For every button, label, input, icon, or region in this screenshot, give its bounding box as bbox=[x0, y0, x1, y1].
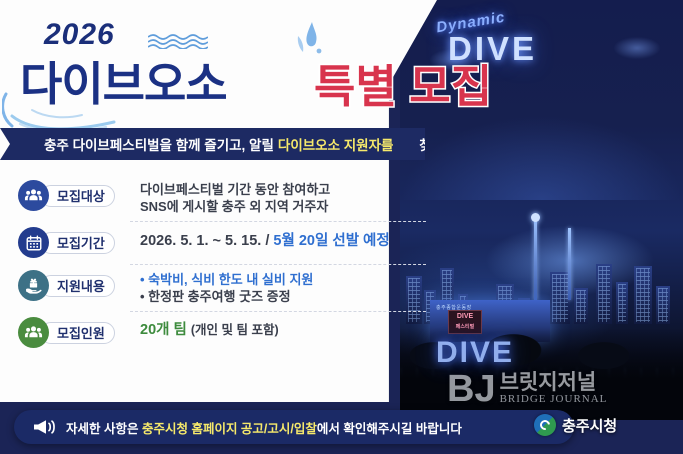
city-logo-name: 충주시청 bbox=[562, 415, 617, 436]
info-row-badge: 모집기간 bbox=[18, 227, 130, 258]
info-line: 다이브페스티벌 기간 동안 참여하고 bbox=[140, 181, 418, 198]
info-row-body: 숙박비, 식비 한도 내 실비 지원 한정판 충주여행 굿즈 증정 bbox=[130, 270, 418, 305]
info-row-badge: 지원내용 bbox=[18, 270, 130, 301]
observation-tower bbox=[534, 214, 537, 300]
drone-text-lower: DIVE bbox=[436, 336, 514, 370]
skyline-building bbox=[550, 272, 570, 324]
info-row-label: 모집대상 bbox=[40, 185, 115, 207]
info-row: 모집대상 다이브페스티벌 기간 동안 참여하고 SNS에 게시할 충주 외 지역… bbox=[18, 174, 418, 221]
people-group-icon bbox=[18, 180, 49, 211]
info-row-label: 모집기간 bbox=[40, 232, 115, 254]
info-line: 숙박비, 식비 한도 내 실비 지원 bbox=[140, 271, 418, 288]
poster-title-accent: 특별 모집 bbox=[314, 50, 492, 115]
footer-text-before: 자세한 사항은 bbox=[66, 422, 138, 436]
info-row: 모집인원 20개 팀 (개인 및 팀 포함) bbox=[18, 311, 418, 354]
info-row-body: 20개 팀 (개인 및 팀 포함) bbox=[130, 317, 418, 339]
info-line-text: 20개 팀 bbox=[140, 322, 187, 338]
calendar-icon bbox=[18, 227, 49, 258]
city-emblem-icon bbox=[534, 414, 556, 436]
people-group-icon bbox=[18, 317, 49, 348]
ribbon-highlight: 다이브오소 지원자를 bbox=[278, 138, 394, 153]
poster-root: 충주종합운동장 DIVE 페스티벌 Dynamic DIVE DIVE 2026 bbox=[0, 0, 683, 454]
footer-highlight: 충주시청 홈페이지 공고/고시/입찰 bbox=[142, 422, 317, 436]
ribbon-text: 충주 다이브페스티벌을 함께 즐기고, 알릴다이브오소 지원자를 찾습니다! bbox=[22, 134, 473, 154]
info-row: 지원내용 숙박비, 식비 한도 내 실비 지원 한정판 충주여행 굿즈 증정 bbox=[18, 264, 418, 311]
subtitle-ribbon: 충주 다이브페스티벌을 함께 즐기고, 알릴다이브오소 지원자를 찾습니다! bbox=[0, 128, 425, 160]
gift-on-hand-icon bbox=[18, 270, 49, 301]
info-row-label: 지원내용 bbox=[40, 275, 115, 297]
wave-lines-icon bbox=[148, 33, 208, 49]
skyline-building bbox=[596, 264, 612, 324]
ribbon-text-before: 충주 다이브페스티벌을 함께 즐기고, 알릴 bbox=[44, 138, 274, 153]
year-label: 2026 bbox=[44, 18, 115, 52]
info-row-body: 2026. 5. 1. ~ 5. 15. / 5월 20일 선발 예정 bbox=[130, 227, 418, 250]
info-line: 2026. 5. 1. ~ 5. 15. / 5월 20일 선발 예정 bbox=[140, 233, 418, 250]
info-line: 한정판 충주여행 굿즈 증정 bbox=[140, 288, 418, 305]
info-row-body: 다이브페스티벌 기간 동안 참여하고 SNS에 게시할 충주 외 지역 거주자 bbox=[130, 180, 418, 215]
info-line-text: 2026. 5. 1. ~ 5. 15. / bbox=[140, 233, 269, 249]
info-rows: 모집대상 다이브페스티벌 기간 동안 참여하고 SNS에 게시할 충주 외 지역… bbox=[18, 174, 418, 354]
footer-notice-bar: 자세한 사항은 충주시청 홈페이지 공고/고시/입찰에서 확인해주시길 바랍니다 bbox=[14, 410, 574, 444]
info-line: SNS에 게시할 충주 외 지역 거주자 bbox=[140, 198, 418, 215]
tower-beacon bbox=[531, 213, 540, 222]
info-line: 20개 팀 (개인 및 팀 포함) bbox=[140, 322, 418, 339]
poster-title-main: 다이브오소 bbox=[20, 48, 227, 114]
skyline-building bbox=[616, 282, 628, 324]
antenna-tower bbox=[568, 228, 571, 300]
chungju-city-logo: 충주시청 bbox=[534, 414, 617, 436]
info-row-badge: 모집인원 bbox=[18, 317, 130, 348]
info-row-badge: 모집대상 bbox=[18, 180, 130, 211]
footer-text: 자세한 사항은 충주시청 홈페이지 공고/고시/입찰에서 확인해주시길 바랍니다 bbox=[66, 418, 462, 437]
footer-text-after: 에서 확인해주시길 바랍니다 bbox=[317, 422, 462, 436]
megaphone-icon bbox=[32, 418, 56, 436]
skyline-building bbox=[574, 288, 588, 324]
info-line-suffix: 5월 20일 선발 예정 bbox=[273, 233, 389, 249]
info-line-suffix: (개인 및 팀 포함) bbox=[191, 323, 279, 337]
skyline-building bbox=[634, 266, 652, 324]
hall-screen-line1: DIVE bbox=[449, 311, 481, 322]
info-row-label: 모집인원 bbox=[40, 322, 115, 344]
skyline-building bbox=[656, 286, 670, 324]
info-row: 모집기간 2026. 5. 1. ~ 5. 15. / 5월 20일 선발 예정 bbox=[18, 221, 418, 264]
